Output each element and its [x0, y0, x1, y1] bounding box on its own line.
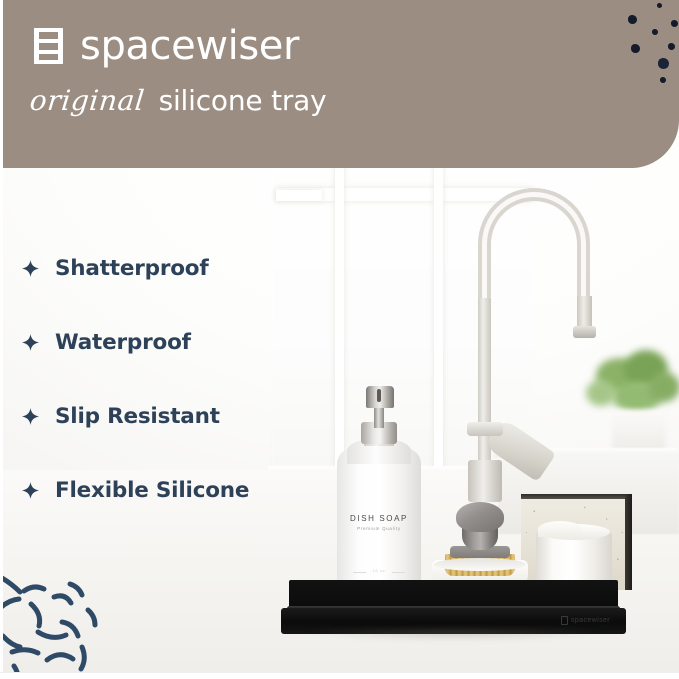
brand-lockup: spacewiser	[34, 26, 299, 66]
black-silicone-tray: spacewiser	[281, 580, 626, 642]
feature-item-slip-resistant: Slip Resistant	[22, 398, 292, 434]
holder-swoop-edge	[538, 521, 582, 537]
bottle-pump-notch	[377, 389, 381, 402]
faucet-aerator	[573, 326, 596, 338]
decor-dot	[660, 77, 666, 83]
decor-dot	[628, 15, 637, 24]
decor-dot	[668, 43, 675, 50]
bottle-label-title: DISH SOAP	[337, 514, 421, 523]
header-banner: spacewiser original silicone tray	[0, 0, 679, 168]
sparkle-icon	[22, 260, 39, 277]
sparkle-icon	[22, 334, 39, 351]
card-bottom-edge	[0, 672, 679, 679]
feature-list: Shatterproof Waterproof Slip Resistant	[22, 250, 292, 508]
decor-dot	[657, 3, 662, 8]
feature-item-flexible-silicone: Flexible Silicone	[22, 472, 292, 508]
decor-dot	[631, 44, 640, 53]
decor-dot	[652, 29, 658, 35]
decor-dot	[658, 58, 669, 69]
arc-scatter-decoration	[0, 548, 132, 679]
tray-logo-text: spacewiser	[571, 617, 610, 624]
sponge-side-edge	[625, 494, 632, 590]
faucet-arc-highlight	[482, 192, 586, 306]
faucet-base	[468, 460, 502, 502]
window-mullion-stub	[276, 190, 322, 201]
tray-embossed-logo: spacewiser	[561, 616, 610, 625]
faucet-collar	[467, 422, 503, 436]
faucet-spout	[577, 296, 592, 330]
brush-dish-rim	[434, 558, 526, 571]
feature-label: Waterproof	[55, 330, 191, 355]
tagline-script-word: original	[28, 84, 146, 117]
tagline-plain-words: silicone tray	[159, 84, 327, 117]
gooseneck-faucet	[460, 178, 660, 508]
shelf-logo-icon	[561, 616, 568, 625]
feature-label: Flexible Silicone	[55, 478, 249, 503]
card-left-edge	[0, 0, 3, 679]
bottle-label-subtitle: Premium Quality	[337, 526, 421, 531]
dish-soap-bottle: DISH SOAP Premium Quality 16 oz	[337, 386, 421, 590]
tray-drop-shadow	[283, 630, 624, 644]
feature-item-waterproof: Waterproof	[22, 324, 292, 360]
brand-name: spacewiser	[80, 26, 299, 66]
window-mullion-vertical-right	[434, 150, 443, 490]
product-listing-image: DISH SOAP Premium Quality 16 oz spacewis…	[0, 0, 679, 679]
shelf-logo-icon	[34, 28, 63, 64]
bottle-volume-marking: 16 oz	[337, 568, 421, 573]
product-tagline: original silicone tray	[30, 84, 327, 117]
sparkle-icon	[22, 408, 39, 425]
feature-label: Slip Resistant	[55, 404, 220, 429]
decor-dot	[671, 20, 678, 27]
feature-item-shatterproof: Shatterproof	[22, 250, 292, 286]
sparkle-icon	[22, 482, 39, 499]
brush-knob	[456, 502, 504, 532]
sponge-top-edge	[521, 494, 631, 499]
feature-label: Shatterproof	[55, 256, 209, 281]
